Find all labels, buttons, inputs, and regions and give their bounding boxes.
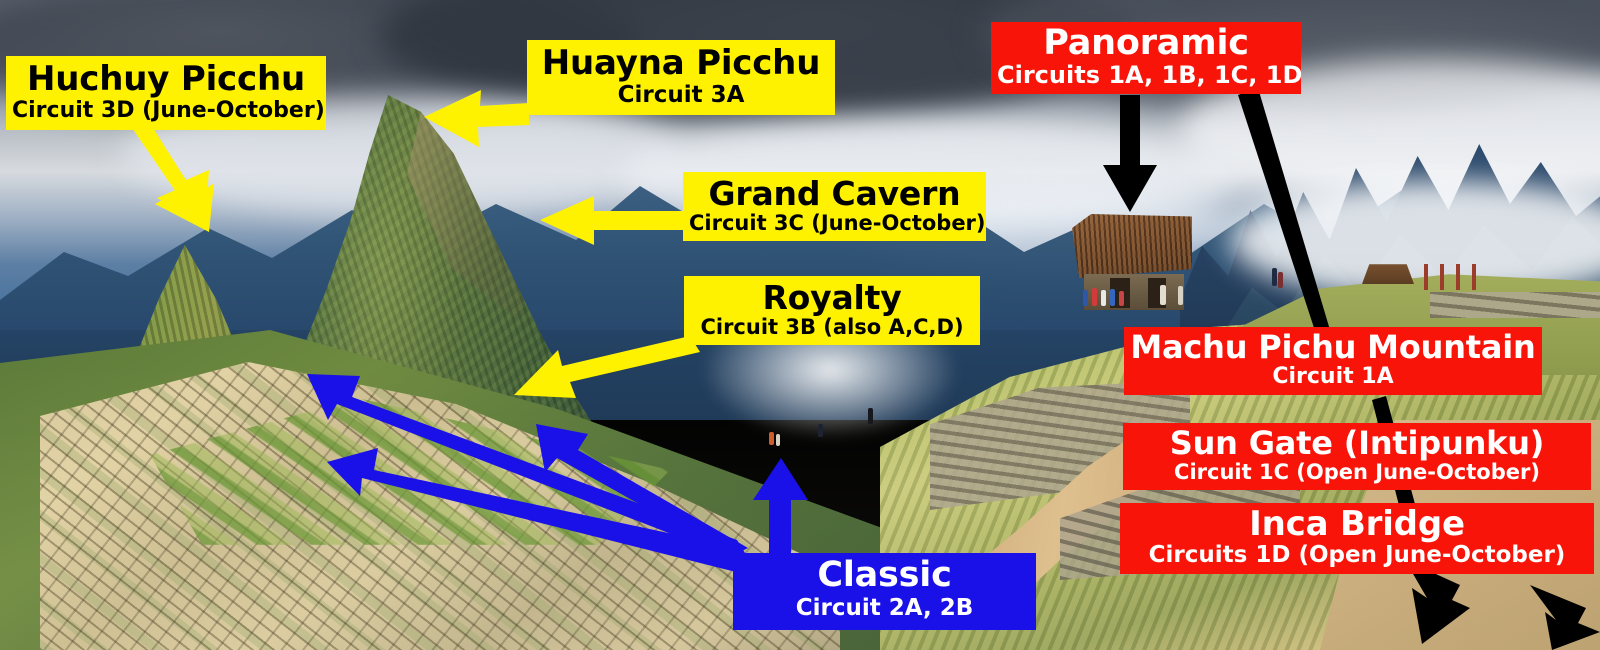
annotated-photo-map: Huchuy Picchu Circuit 3D (June-October) …	[0, 0, 1600, 650]
guardhouse-walls	[1084, 274, 1184, 310]
label-title: Royalty	[690, 281, 974, 314]
label-title: Classic	[739, 558, 1030, 593]
label-huayna-picchu[interactable]: Huayna Picchu Circuit 3A	[527, 40, 835, 115]
label-subtitle: Circuit 3A	[533, 84, 829, 107]
visitor-figure	[1083, 290, 1088, 306]
label-subtitle: Circuit 2A, 2B	[739, 597, 1030, 620]
label-classic[interactable]: Classic Circuit 2A, 2B	[733, 553, 1036, 630]
label-panoramic[interactable]: Panoramic Circuits 1A, 1B, 1C, 1D	[991, 22, 1301, 94]
visitor-figure	[769, 432, 774, 445]
visitor-figure	[1092, 288, 1097, 306]
label-machu-pichu-mountain[interactable]: Machu Pichu Mountain Circuit 1A	[1124, 327, 1542, 395]
visitor-figure	[1178, 286, 1183, 305]
label-subtitle: Circuit 3D (June-October)	[12, 100, 320, 122]
label-title: Panoramic	[997, 26, 1295, 61]
label-sun-gate[interactable]: Sun Gate (Intipunku) Circuit 1C (Open Ju…	[1123, 423, 1591, 490]
label-subtitle: Circuits 1D (Open June-October)	[1126, 544, 1588, 567]
label-subtitle: Circuit 1A	[1130, 366, 1536, 388]
guardhouse-thatched-roof	[1072, 214, 1192, 278]
label-grand-cavern[interactable]: Grand Cavern Circuit 3C (June-October)	[683, 172, 986, 241]
visitor-figure	[1160, 285, 1166, 305]
label-royalty[interactable]: Royalty Circuit 3B (also A,C,D)	[684, 276, 980, 345]
label-title: Grand Cavern	[689, 177, 980, 210]
label-subtitle: Circuits 1A, 1B, 1C, 1D	[997, 63, 1295, 87]
label-title: Machu Pichu Mountain	[1130, 331, 1536, 363]
distant-post-fence	[1424, 264, 1484, 290]
label-inca-bridge[interactable]: Inca Bridge Circuits 1D (Open June-Octob…	[1120, 503, 1594, 574]
visitor-figure	[818, 424, 823, 437]
visitor-figure	[868, 408, 873, 424]
label-title: Sun Gate (Intipunku)	[1129, 427, 1585, 459]
visitor-figure	[1272, 268, 1277, 286]
visitor-figure	[1101, 290, 1106, 306]
visitor-figure	[1278, 272, 1283, 288]
label-subtitle: Circuit 3C (June-October)	[689, 213, 980, 234]
label-title: Inca Bridge	[1126, 507, 1588, 541]
visitor-figure	[1119, 291, 1124, 306]
thatch-texture	[1072, 214, 1192, 278]
label-huchuy-picchu[interactable]: Huchuy Picchu Circuit 3D (June-October)	[6, 56, 326, 130]
distant-ruin-structure	[1362, 262, 1414, 284]
label-title: Huchuy Picchu	[12, 62, 320, 96]
distant-stone-wall	[1430, 292, 1600, 318]
label-title: Huayna Picchu	[533, 46, 829, 80]
label-subtitle: Circuit 1C (Open June-October)	[1129, 462, 1585, 483]
label-subtitle: Circuit 3B (also A,C,D)	[690, 317, 974, 338]
visitor-figure	[776, 434, 780, 446]
visitor-figure	[1110, 289, 1115, 306]
